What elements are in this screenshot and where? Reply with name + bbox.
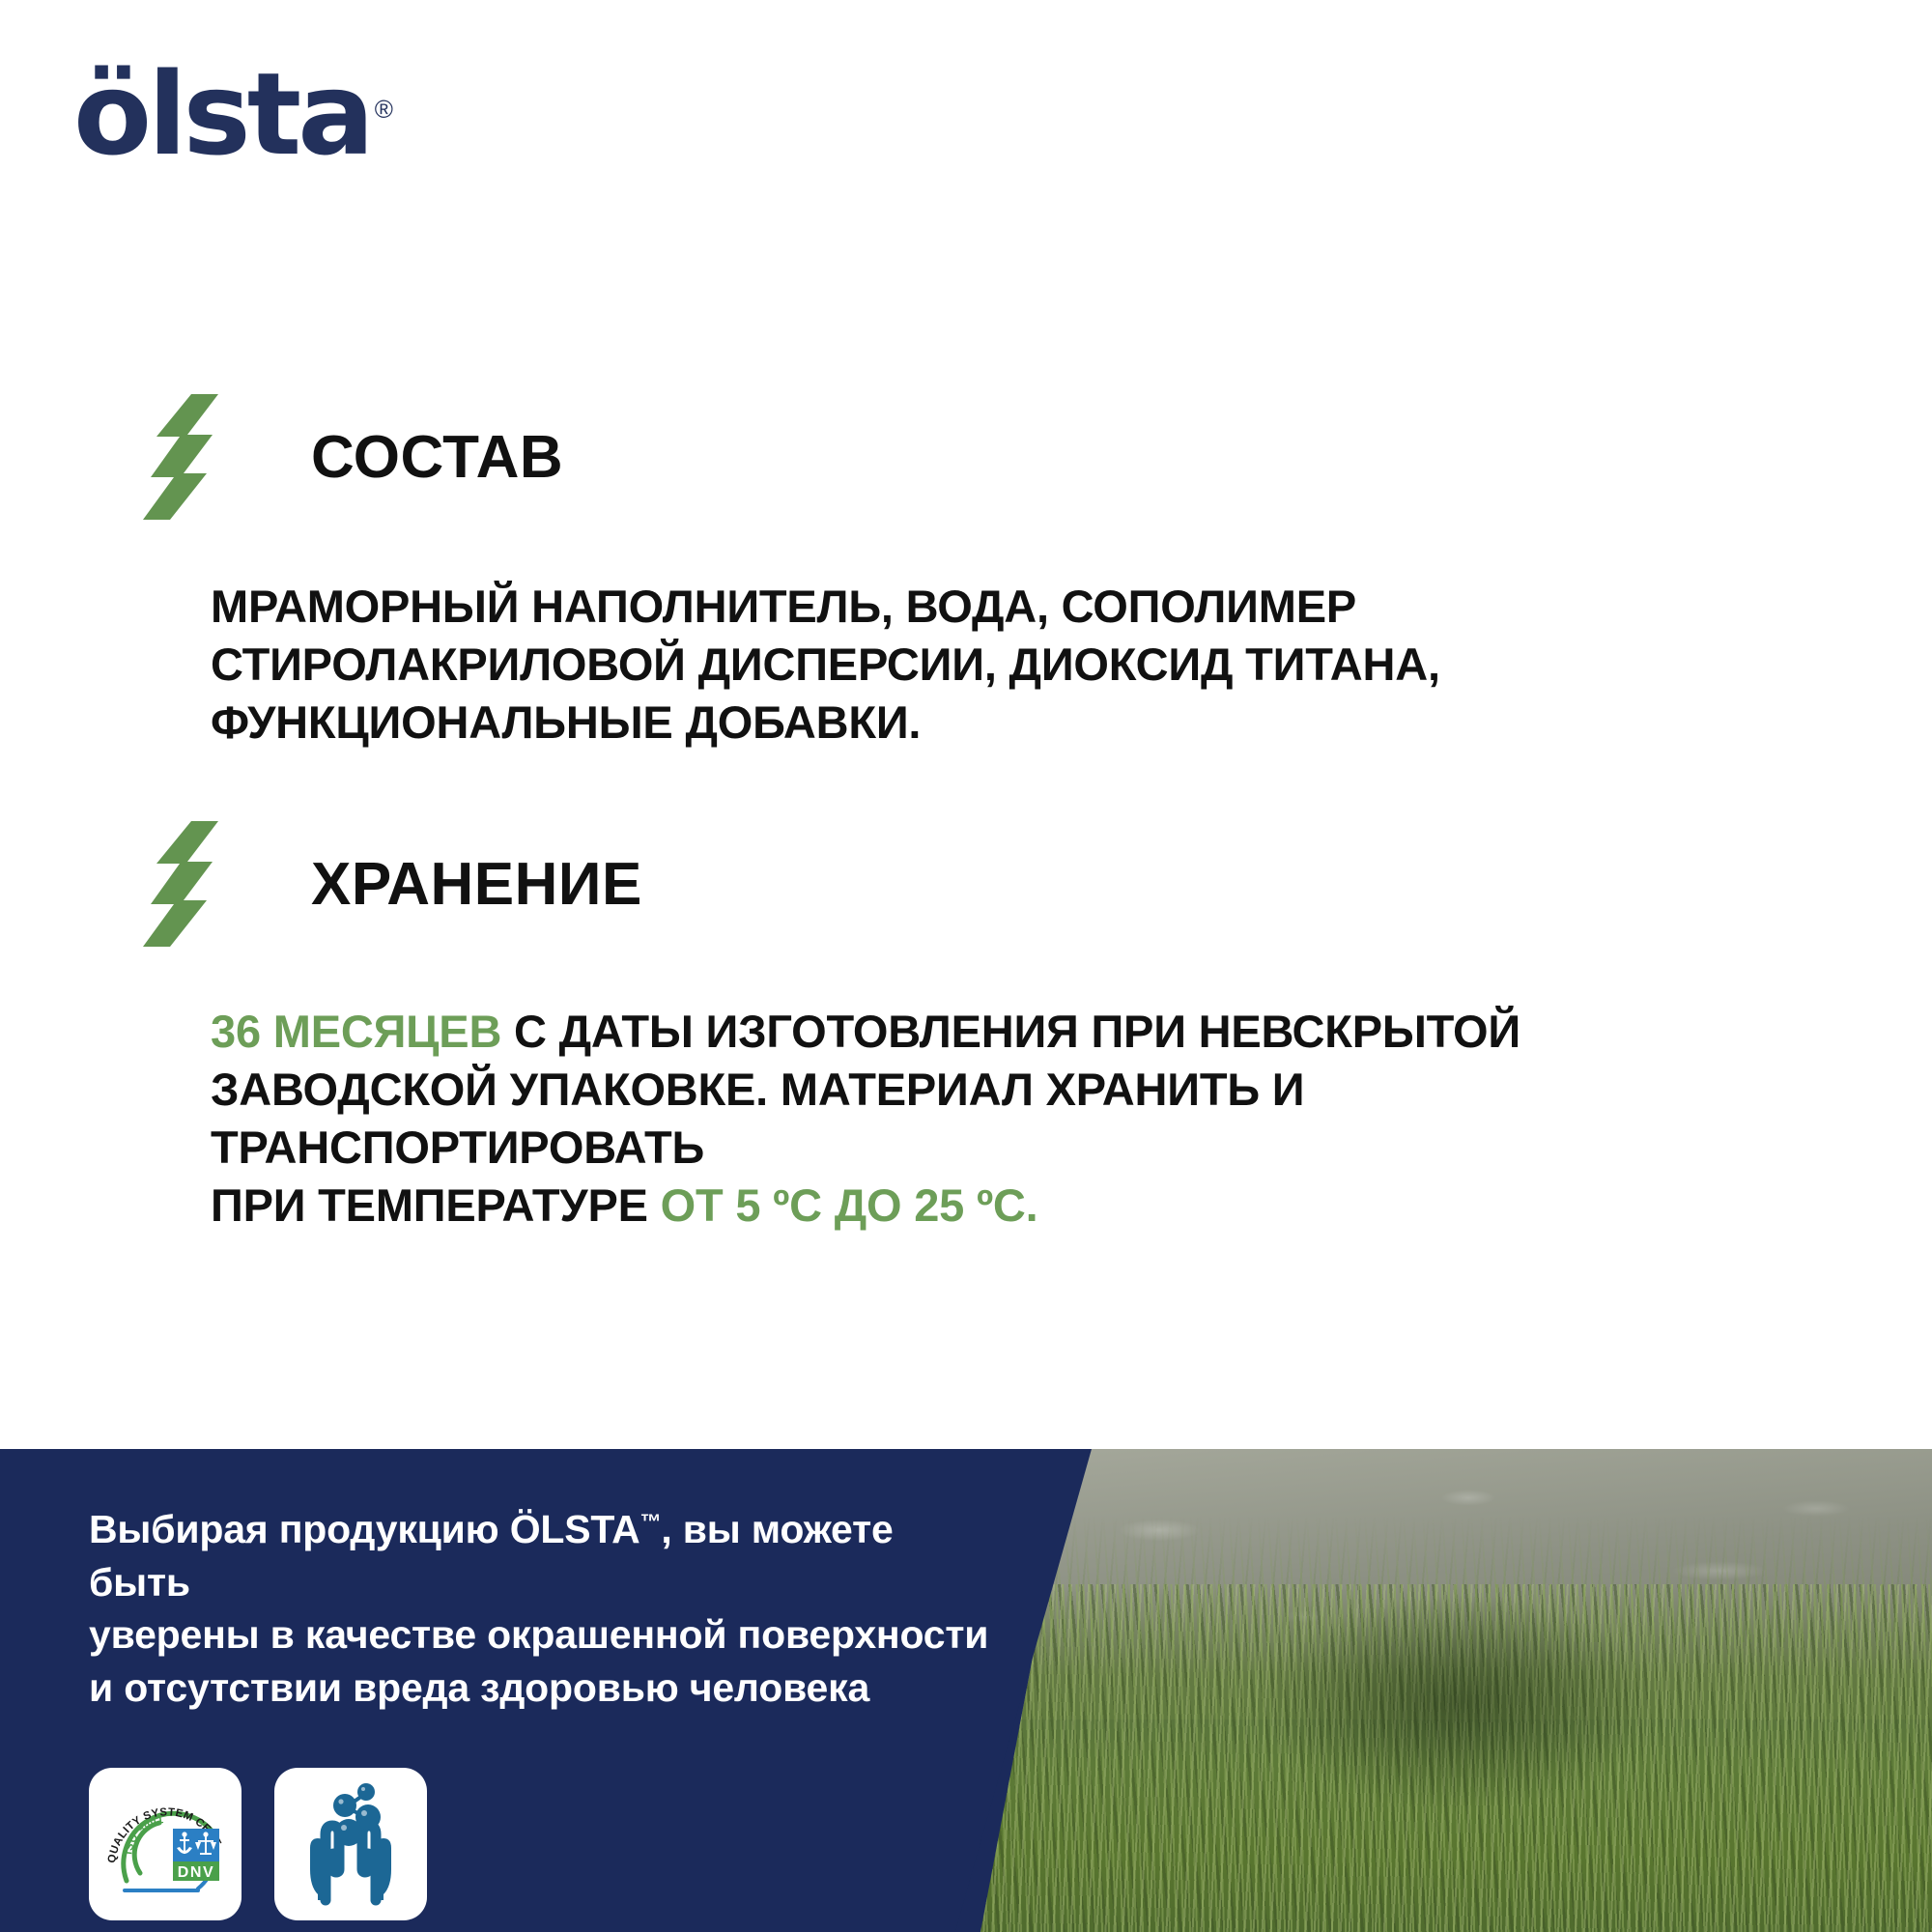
footer-message-line1-pre: Выбирая продукцию ÖLSTA (89, 1507, 640, 1551)
lightning-bolt-icon (143, 821, 218, 947)
footer-photo-grass-wall (966, 1449, 1932, 1932)
registered-trademark-icon: ® (375, 95, 393, 125)
svg-text:DNV: DNV (178, 1864, 215, 1881)
certification-badges: QUALITY SYSTEM CERTIFICATION ISO 9001 (89, 1768, 997, 1920)
section-composition-title: СОСТАВ (311, 423, 563, 492)
storage-temperature-value: ОТ 5 ºС ДО 25 ºС. (661, 1179, 1038, 1231)
footer-message-line3: и отсутствии вреда здоровью человека (89, 1665, 869, 1710)
section-storage-header: ХРАНЕНИЕ (0, 821, 1932, 947)
section-storage-body: 36 МЕСЯЦЕВ С ДАТЫ ИЗГОТОВЛЕНИЯ ПРИ НЕВСК… (0, 1003, 1932, 1236)
brand-logo: ölsta ® (73, 60, 393, 168)
storage-temperature-label: ПРИ ТЕМПЕРАТУРЕ (211, 1179, 661, 1231)
footer-message: Выбирая продукцию ÖLSTA™, вы можете быть… (89, 1503, 997, 1714)
footer-banner: Выбирая продукцию ÖLSTA™, вы можете быть… (0, 1449, 1932, 1932)
storage-duration-value: 36 МЕСЯЦЕВ (211, 1006, 501, 1057)
section-storage: ХРАНЕНИЕ 36 МЕСЯЦЕВ С ДАТЫ ИЗГОТОВЛЕНИЯ … (0, 821, 1932, 1236)
section-storage-title: ХРАНЕНИЕ (311, 850, 642, 919)
hands-holding-molecule-safety-icon (274, 1768, 427, 1920)
footer-message-line2: уверены в качестве окрашенной поверхност… (89, 1612, 988, 1657)
iso-9001-dnv-certification-badge: QUALITY SYSTEM CERTIFICATION ISO 9001 (89, 1768, 241, 1920)
photo-shadow (1256, 1594, 1662, 1811)
product-info-page: ölsta ® СОСТАВ МРАМОРНЫЙ НАПОЛНИТЕЛЬ, ВО… (0, 0, 1932, 1932)
section-composition: СОСТАВ МРАМОРНЫЙ НАПОЛНИТЕЛЬ, ВОДА, СОПО… (0, 394, 1932, 752)
trademark-icon: ™ (640, 1509, 662, 1533)
lightning-bolt-icon (143, 394, 218, 520)
section-composition-header: СОСТАВ (0, 394, 1932, 520)
logo-wordmark: ölsta (73, 60, 371, 168)
section-composition-body: МРАМОРНЫЙ НАПОЛНИТЕЛЬ, ВОДА, СОПОЛИМЕР С… (0, 578, 1932, 752)
footer-content: Выбирая продукцию ÖLSTA™, вы можете быть… (89, 1503, 997, 1920)
